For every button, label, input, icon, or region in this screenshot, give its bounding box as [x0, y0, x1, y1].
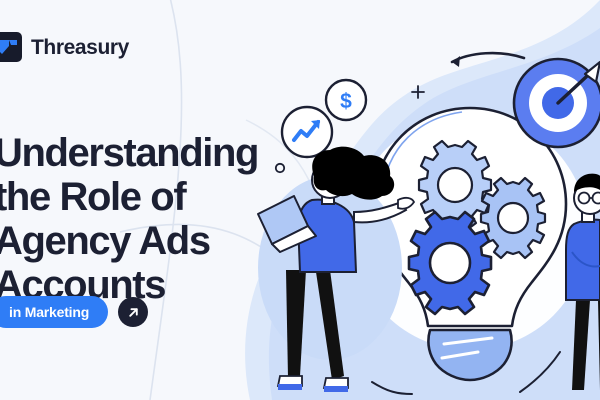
arrow-up-right-icon[interactable] — [118, 297, 148, 327]
brand-name: Threasury — [31, 37, 129, 58]
page-title: Understanding the Role of Agency Ads Acc… — [0, 131, 294, 307]
category-row: in Marketing — [0, 296, 148, 328]
svg-text:$: $ — [340, 90, 352, 113]
bullseye-target-icon — [514, 59, 600, 147]
hero-banner: $ — [0, 0, 600, 400]
category-badge[interactable]: in Marketing — [0, 296, 108, 328]
threasury-mark-icon — [0, 32, 22, 62]
brand-logo[interactable]: Threasury — [0, 32, 129, 62]
dollar-coin-badge-icon: $ — [326, 80, 366, 120]
